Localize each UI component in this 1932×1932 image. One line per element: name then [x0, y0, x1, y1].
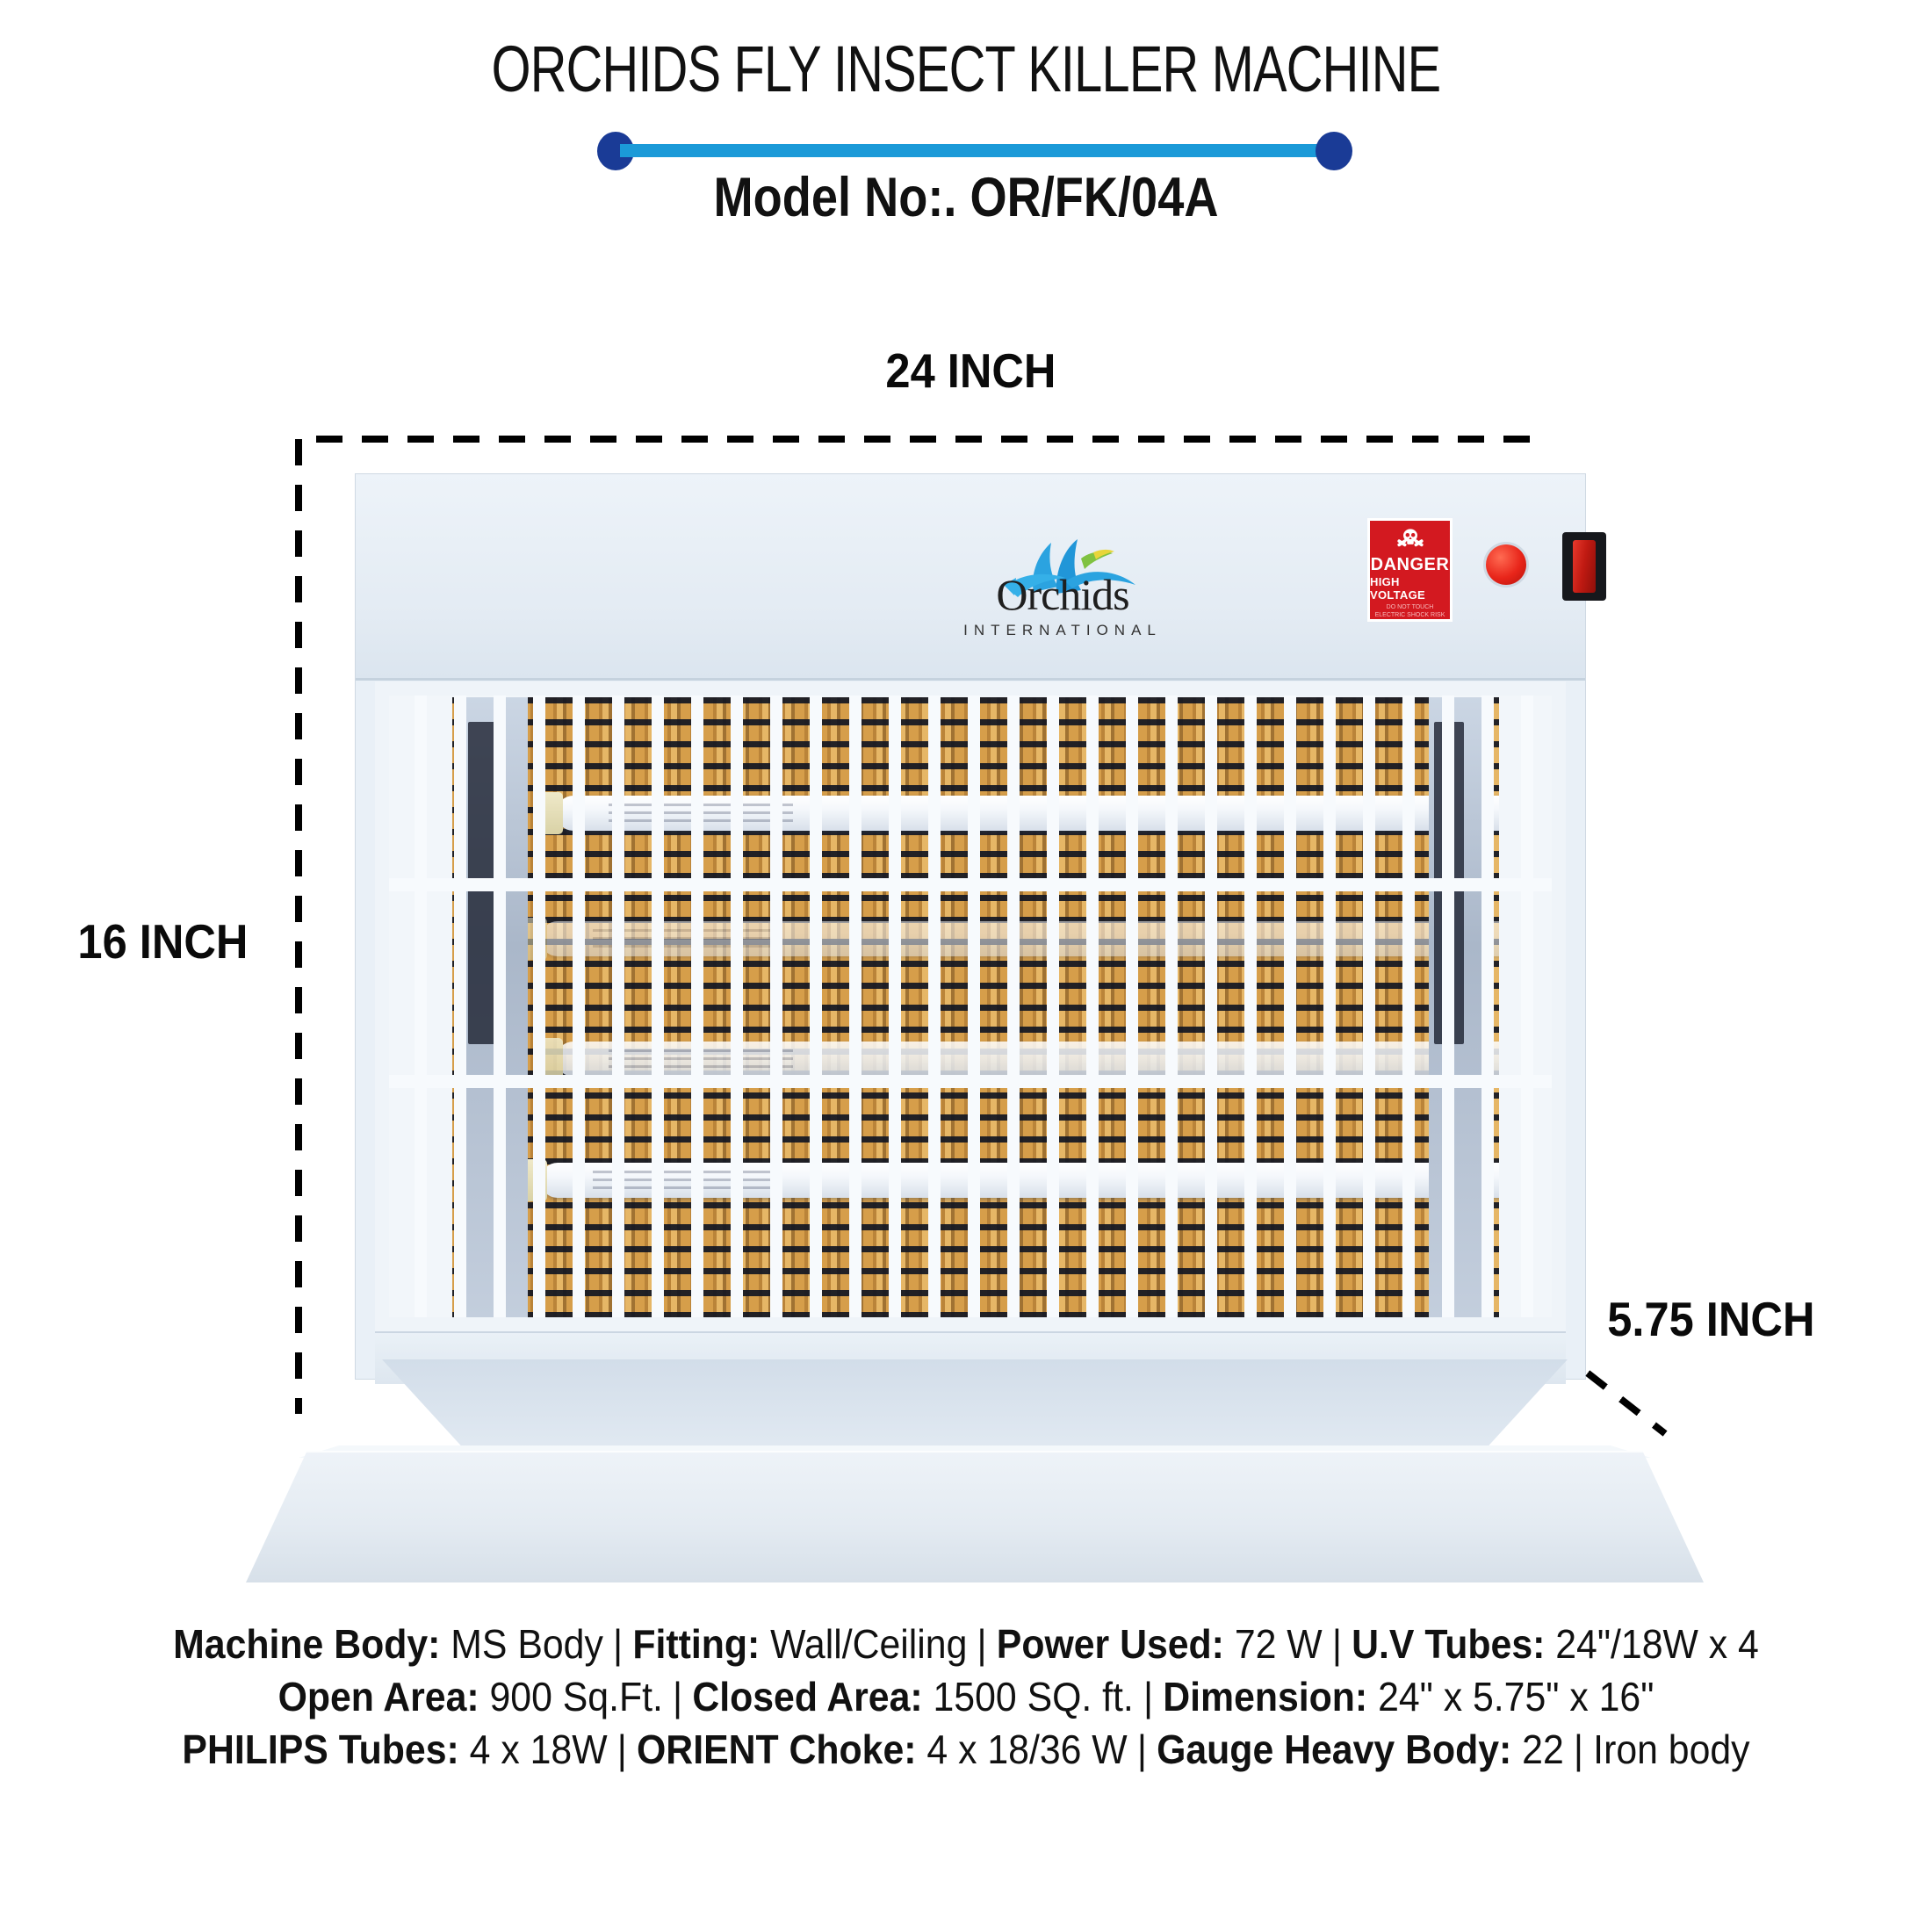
switch-rocker [1573, 540, 1596, 593]
specifications-block: Machine Body: MS Body|Fitting: Wall/Ceil… [0, 1618, 1932, 1776]
spec-value: 24"/18W x 4 [1555, 1621, 1759, 1667]
spec-label: Gauge Heavy Body: [1157, 1727, 1511, 1772]
spec-separator: | [663, 1674, 692, 1719]
spec-label: ORIENT Choke: [637, 1727, 916, 1772]
spec-value: Iron body [1593, 1727, 1749, 1772]
danger-line-1: DANGER [1371, 555, 1450, 575]
dimension-width-label: 24 INCH [885, 342, 1056, 399]
model-number: Model No:. OR/FK/04A [135, 163, 1797, 232]
spec-separator: | [608, 1727, 637, 1772]
danger-line-2: HIGH VOLTAGE [1370, 575, 1450, 602]
divider-bar [620, 144, 1330, 157]
indicator-lamp[interactable] [1486, 544, 1526, 585]
spec-separator: | [1128, 1727, 1157, 1772]
spec-value: 72 W [1235, 1621, 1323, 1667]
dimension-height-label: 16 INCH [77, 913, 248, 970]
product-body: Orchids INTERNATIONAL DANGER HIGH VOLT [356, 474, 1585, 1379]
spec-label: PHILIPS Tubes: [182, 1727, 458, 1772]
danger-sticker: DANGER HIGH VOLTAGE DO NOT TOUCHELECTRIC… [1367, 518, 1453, 622]
spec-label: Open Area: [278, 1674, 479, 1719]
spec-row: PHILIPS Tubes: 4 x 18W|ORIENT Choke: 4 x… [68, 1723, 1864, 1776]
product-image: Orchids INTERNATIONAL DANGER HIGH VOLT [237, 474, 1712, 1598]
spec-separator: | [967, 1621, 996, 1667]
tray-front-panel [246, 1451, 1704, 1582]
spec-value: Wall/Ceiling [770, 1621, 967, 1667]
control-panel: Orchids INTERNATIONAL DANGER HIGH VOLT [356, 474, 1585, 681]
spec-separator: | [603, 1621, 632, 1667]
collection-tray [237, 1359, 1712, 1597]
protective-grill [375, 681, 1566, 1331]
page-title: ORCHIDS FLY INSECT KILLER MACHINE [213, 33, 1719, 105]
skull-crossbones-icon [1391, 524, 1430, 554]
spec-value: 900 Sq.Ft. [490, 1674, 663, 1719]
brand-name: Orchids [953, 569, 1172, 620]
spec-value: 4 x 18W [470, 1727, 608, 1772]
spec-label: Fitting: [632, 1621, 760, 1667]
spec-separator: | [1564, 1727, 1593, 1772]
spec-value: MS Body [451, 1621, 603, 1667]
spec-value: 22 [1522, 1727, 1564, 1772]
dimension-line-horizontal [316, 436, 1546, 443]
brand-logo: Orchids INTERNATIONAL [953, 523, 1172, 655]
spec-separator: | [1134, 1674, 1163, 1719]
power-switch[interactable] [1562, 532, 1606, 601]
spec-value: 4 x 18/36 W [926, 1727, 1127, 1772]
spec-value: 24" x 5.75" x 16" [1378, 1674, 1654, 1719]
spec-label: Power Used: [997, 1621, 1224, 1667]
infographic-page: ORCHIDS FLY INSECT KILLER MACHINE Model … [0, 0, 1932, 1932]
spec-row: Machine Body: MS Body|Fitting: Wall/Ceil… [68, 1618, 1864, 1670]
danger-line-3: DO NOT TOUCHELECTRIC SHOCK RISK [1375, 603, 1445, 619]
spec-label: Dimension: [1163, 1674, 1367, 1719]
spec-label: Machine Body: [173, 1621, 440, 1667]
spec-value: 1500 SQ. ft. [934, 1674, 1134, 1719]
grill-frame [375, 681, 1566, 1331]
spec-label: Closed Area: [692, 1674, 922, 1719]
brand-subtitle: INTERNATIONAL [953, 622, 1172, 639]
spec-row: Open Area: 900 Sq.Ft.|Closed Area: 1500 … [68, 1670, 1864, 1723]
spec-separator: | [1323, 1621, 1352, 1667]
spec-label: U.V Tubes: [1352, 1621, 1545, 1667]
